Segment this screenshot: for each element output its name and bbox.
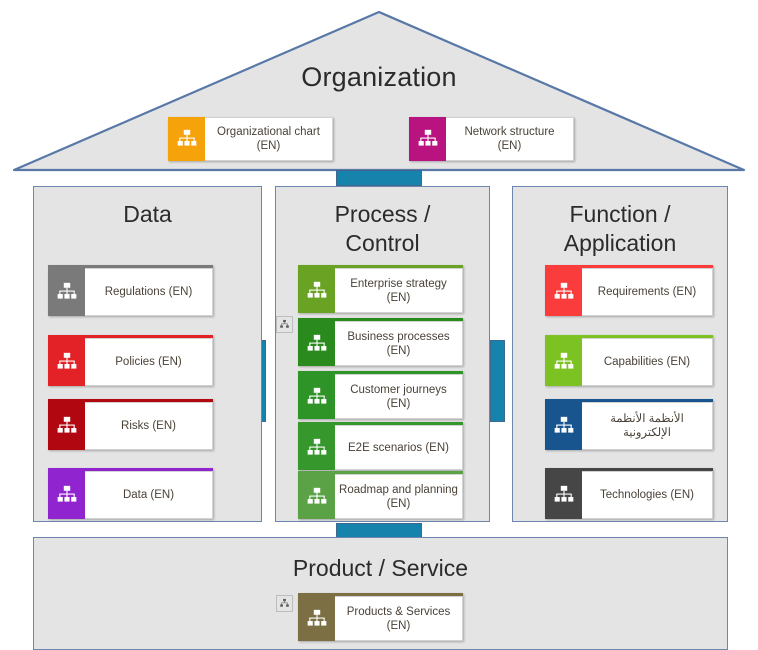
tile-technologies[interactable]: Technologies (EN) — [545, 468, 713, 519]
tile-label-line1: Roadmap and planning — [339, 484, 458, 496]
org-chart-icon — [545, 471, 582, 519]
tile-roadmap-and-planning[interactable]: Roadmap and planning (EN) — [298, 471, 463, 519]
hierarchy-marker-icon-glyph — [279, 319, 290, 330]
tile-body: الأنظمة الأنظمة الإلكترونية — [582, 402, 713, 450]
tile-electronic-systems[interactable]: الأنظمة الأنظمة الإلكترونية — [545, 399, 713, 450]
tile-body: Organizational chart (EN) — [205, 117, 333, 161]
tile-risks[interactable]: Risks (EN) — [48, 399, 213, 450]
org-chart-icon — [545, 268, 582, 316]
tile-body: Customer journeys (EN) — [335, 374, 463, 419]
tile-label-line1: Network structure — [464, 126, 554, 138]
tile-body: Requirements (EN) — [582, 268, 713, 316]
panel-title-line: Function / — [570, 201, 671, 227]
tile-label: الأنظمة الأنظمة الإلكترونية — [586, 412, 708, 440]
org-chart-icon — [298, 474, 335, 519]
tile-body: Business processes (EN) — [335, 321, 463, 366]
tile-label: Capabilities (EN) — [604, 355, 690, 369]
tile-requirements[interactable]: Requirements (EN) — [545, 265, 713, 316]
org-chart-icon-glyph — [553, 415, 575, 437]
org-chart-icon-glyph — [553, 484, 575, 506]
org-chart-icon — [48, 268, 85, 316]
org-chart-icon-glyph — [176, 128, 198, 150]
tile-label: Risks (EN) — [121, 419, 176, 433]
tile-body: Regulations (EN) — [85, 268, 213, 316]
connector-process-to-function — [490, 340, 505, 422]
panel-title-line: Data — [123, 201, 172, 227]
tile-label-line1: Organizational chart — [217, 126, 320, 138]
org-chart-icon-glyph — [306, 437, 328, 459]
tile-capabilities[interactable]: Capabilities (EN) — [545, 335, 713, 386]
tile-label: Requirements (EN) — [598, 285, 696, 299]
tile-body: Risks (EN) — [85, 402, 213, 450]
org-chart-icon-glyph — [553, 351, 575, 373]
tile-label-line2: (EN) — [387, 345, 411, 357]
tile-label: Customer journeys (EN) — [350, 383, 447, 411]
org-chart-icon — [48, 471, 85, 519]
org-chart-icon-glyph — [553, 281, 575, 303]
hierarchy-marker-icon — [276, 595, 293, 612]
tile-e2e-scenarios[interactable]: E2E scenarios (EN) — [298, 422, 463, 470]
org-chart-icon — [168, 117, 205, 161]
tile-label-line1: Enterprise strategy — [350, 278, 447, 290]
panel-title-data: Data — [34, 200, 261, 229]
tile-label-line2: (EN) — [387, 398, 411, 410]
org-chart-icon — [545, 402, 582, 450]
org-chart-icon-glyph — [306, 386, 328, 408]
tile-body: Capabilities (EN) — [582, 338, 713, 386]
org-chart-icon-glyph — [417, 128, 439, 150]
tile-label: Policies (EN) — [115, 355, 181, 369]
org-chart-icon — [48, 402, 85, 450]
tile-products-and-services[interactable]: Products & Services (EN) — [298, 593, 463, 641]
org-chart-icon — [298, 321, 335, 366]
org-chart-icon-glyph — [306, 608, 328, 630]
tile-body: Enterprise strategy (EN) — [335, 268, 463, 313]
tile-label: Network structure (EN) — [464, 125, 554, 153]
tile-body: Products & Services (EN) — [335, 596, 463, 641]
tile-label: Data (EN) — [123, 488, 174, 502]
org-chart-icon-glyph — [306, 486, 328, 508]
hierarchy-marker-icon-glyph — [279, 598, 290, 609]
org-chart-icon — [298, 268, 335, 313]
hierarchy-marker-icon — [276, 316, 293, 333]
panel-title-process-control: Process / Control — [276, 200, 489, 258]
tile-customer-journeys[interactable]: Customer journeys (EN) — [298, 371, 463, 419]
panel-title-line: Process / — [335, 201, 431, 227]
org-chart-icon — [298, 374, 335, 419]
tile-label-line1: Products & Services — [347, 606, 451, 618]
tile-label-line2: (EN) — [387, 620, 411, 632]
tile-label-line2: (EN) — [387, 292, 411, 304]
org-chart-icon — [298, 596, 335, 641]
tile-body: Roadmap and planning (EN) — [335, 474, 463, 519]
tile-body: Policies (EN) — [85, 338, 213, 386]
panel-title-function-application: Function / Application — [513, 200, 727, 258]
tile-label: Technologies (EN) — [600, 488, 694, 502]
tile-label: E2E scenarios (EN) — [348, 441, 449, 455]
org-chart-icon — [409, 117, 446, 161]
tile-label-line2: (EN) — [387, 498, 411, 510]
tile-body: Technologies (EN) — [582, 471, 713, 519]
org-chart-icon-glyph — [56, 351, 78, 373]
tile-policies[interactable]: Policies (EN) — [48, 335, 213, 386]
tile-regulations[interactable]: Regulations (EN) — [48, 265, 213, 316]
house-diagram: Organization Organizational chart (EN) — [0, 0, 758, 650]
org-chart-icon-glyph — [56, 484, 78, 506]
tile-label-line1: Customer journeys — [350, 384, 447, 396]
tile-body: Data (EN) — [85, 471, 213, 519]
org-chart-icon-glyph — [306, 280, 328, 302]
panel-title-product-service: Product / Service — [34, 554, 727, 583]
connector-roof-to-process — [336, 170, 422, 186]
tile-body: E2E scenarios (EN) — [335, 425, 463, 470]
panel-title-line: Control — [345, 230, 419, 256]
tile-data[interactable]: Data (EN) — [48, 468, 213, 519]
tile-label-line1: Business processes — [347, 331, 449, 343]
tile-label: Products & Services (EN) — [347, 605, 451, 633]
roof-title: Organization — [0, 62, 758, 93]
org-chart-icon — [545, 338, 582, 386]
panel-title-line: Product / Service — [293, 555, 468, 581]
panel-title-line: Application — [564, 230, 677, 256]
tile-organizational-chart[interactable]: Organizational chart (EN) — [168, 117, 333, 161]
org-chart-icon-glyph — [56, 415, 78, 437]
tile-label: Organizational chart (EN) — [217, 125, 320, 153]
tile-body: Network structure (EN) — [446, 117, 574, 161]
tile-enterprise-strategy[interactable]: Enterprise strategy (EN) — [298, 265, 463, 313]
tile-network-structure[interactable]: Network structure (EN) — [409, 117, 574, 161]
tile-label-line2: (EN) — [257, 140, 281, 152]
org-chart-icon-glyph — [306, 333, 328, 355]
org-chart-icon — [298, 425, 335, 470]
tile-label: Enterprise strategy (EN) — [350, 277, 447, 305]
tile-business-processes[interactable]: Business processes (EN) — [298, 318, 463, 366]
org-chart-icon-glyph — [56, 281, 78, 303]
tile-label: Roadmap and planning (EN) — [339, 483, 458, 511]
tile-label-line2: (EN) — [498, 140, 522, 152]
tile-label: Business processes (EN) — [347, 330, 449, 358]
tile-label: Regulations (EN) — [105, 285, 193, 299]
org-chart-icon — [48, 338, 85, 386]
